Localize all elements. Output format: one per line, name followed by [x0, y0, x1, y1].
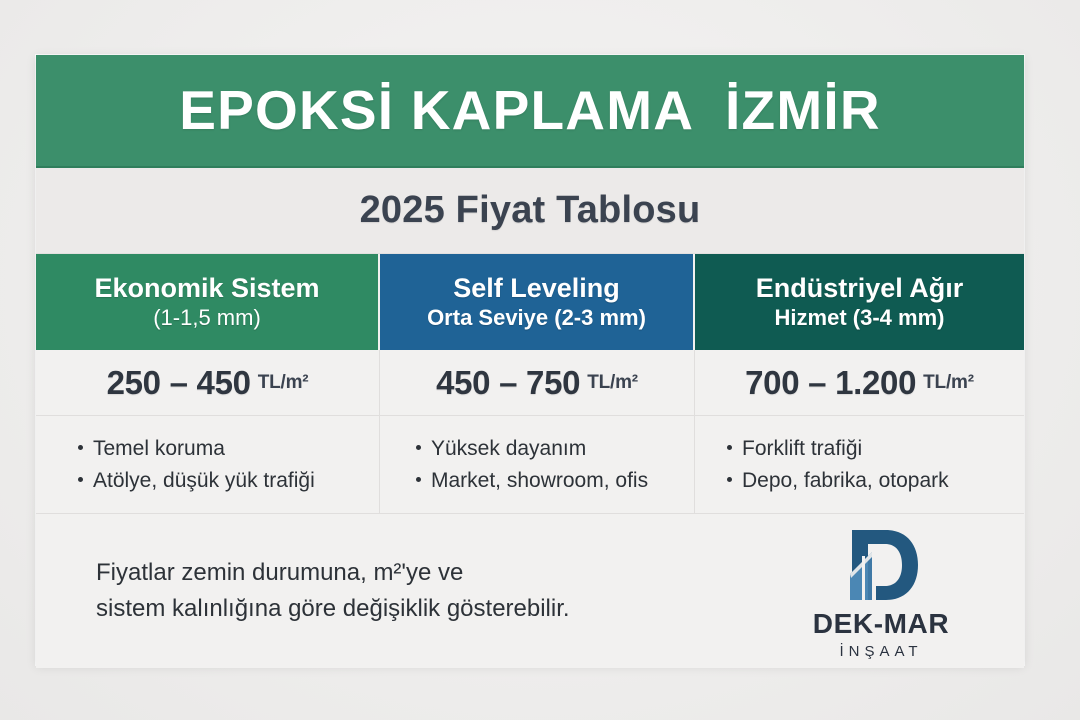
title-banner: EPOKSİ KAPLAMA İZMİR	[36, 55, 1024, 168]
feature-text: Market, showroom, ofis	[431, 469, 648, 492]
price-unit: TL/m²	[258, 372, 309, 394]
list-item: Atölye, düşük yük trafiği	[78, 465, 379, 497]
price-cell-self-leveling: 450 – 750 TL/m²	[380, 350, 695, 416]
column-header-industrial: Endüstriyel Ağır Hizmet (3-4 mm)	[695, 254, 1024, 350]
column-header-economic: Ekonomik Sistem (1-1,5 mm)	[36, 254, 380, 350]
list-item: Temel koruma	[78, 433, 379, 465]
list-item: Yüksek dayanım	[416, 433, 694, 465]
subtitle: 2025 Fiyat Tablosu	[360, 189, 701, 232]
features-cell-self-leveling: Yüksek dayanım Market, showroom, ofis	[380, 416, 695, 514]
feature-text: Temel koruma	[93, 437, 225, 460]
price-range: 250 – 450	[107, 364, 251, 402]
table-features-row: Temel koruma Atölye, düşük yük trafiği Y…	[36, 416, 1024, 514]
column-header-thickness: Orta Seviye (2-3 mm)	[427, 305, 646, 331]
column-header-title: Endüstriyel Ağır	[756, 273, 964, 304]
price-table-card: EPOKSİ KAPLAMA İZMİR 2025 Fiyat Tablosu …	[36, 55, 1024, 665]
footer-area: Fiyatlar zemin durumuna, m²'ye ve sistem…	[36, 514, 1024, 668]
features-cell-industrial: Forklift trafiği Depo, fabrika, otopark	[695, 416, 1024, 514]
column-header-thickness: Hizmet (3-4 mm)	[775, 305, 945, 331]
disclaimer-line-2: sistem kalınlığına göre değişiklik göste…	[96, 591, 570, 627]
bullet-icon	[416, 445, 421, 450]
page-title: EPOKSİ KAPLAMA İZMİR	[179, 83, 881, 138]
bullet-icon	[727, 445, 732, 450]
logo-tagline: İNŞAAT	[839, 643, 922, 660]
price-unit: TL/m²	[923, 372, 974, 394]
letter-d-building-icon	[838, 526, 924, 604]
list-item: Market, showroom, ofis	[416, 465, 694, 497]
feature-text: Atölye, düşük yük trafiği	[93, 469, 315, 492]
features-cell-economic: Temel koruma Atölye, düşük yük trafiği	[36, 416, 380, 514]
column-header-self-leveling: Self Leveling Orta Seviye (2-3 mm)	[380, 254, 695, 350]
bullet-icon	[727, 477, 732, 482]
bullet-icon	[78, 445, 83, 450]
feature-text: Yüksek dayanım	[431, 437, 586, 460]
price-cell-economic: 250 – 450 TL/m²	[36, 350, 380, 416]
feature-text: Forklift trafiği	[742, 437, 862, 460]
poster-canvas: EPOKSİ KAPLAMA İZMİR 2025 Fiyat Tablosu …	[0, 0, 1080, 720]
column-header-title: Self Leveling	[453, 273, 620, 304]
price-range: 700 – 1.200	[745, 364, 916, 402]
feature-text: Depo, fabrika, otopark	[742, 469, 949, 492]
logo-company-name: DEK-MAR	[813, 608, 949, 640]
disclaimer-note: Fiyatlar zemin durumuna, m²'ye ve sistem…	[96, 555, 570, 628]
price-range: 450 – 750	[436, 364, 580, 402]
bullet-icon	[416, 477, 421, 482]
subtitle-banner: 2025 Fiyat Tablosu	[36, 168, 1024, 254]
company-logo: DEK-MAR İNŞAAT	[786, 526, 976, 660]
price-cell-industrial: 700 – 1.200 TL/m²	[695, 350, 1024, 416]
list-item: Depo, fabrika, otopark	[727, 465, 1024, 497]
price-unit: TL/m²	[587, 372, 638, 394]
column-header-title: Ekonomik Sistem	[94, 273, 319, 304]
list-item: Forklift trafiği	[727, 433, 1024, 465]
table-header-row: Ekonomik Sistem (1-1,5 mm) Self Leveling…	[36, 254, 1024, 350]
bullet-icon	[78, 477, 83, 482]
table-price-row: 250 – 450 TL/m² 450 – 750 TL/m² 700 – 1.…	[36, 350, 1024, 416]
column-header-thickness: (1-1,5 mm)	[153, 305, 261, 331]
pricing-table: Ekonomik Sistem (1-1,5 mm) Self Leveling…	[36, 254, 1024, 514]
disclaimer-line-1: Fiyatlar zemin durumuna, m²'ye ve	[96, 555, 570, 591]
